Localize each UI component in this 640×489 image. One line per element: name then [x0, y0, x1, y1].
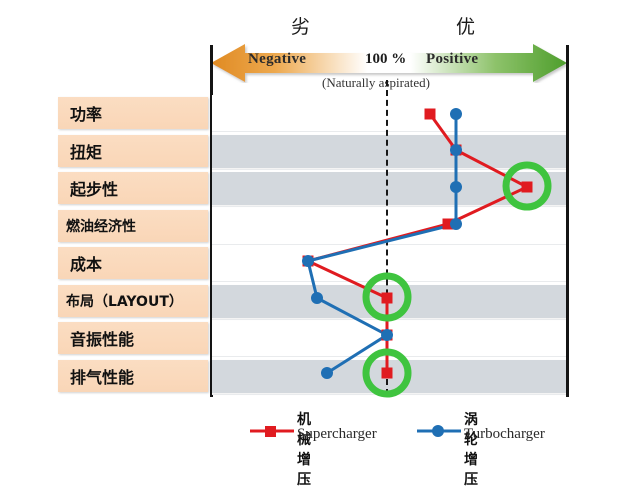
row-separator [212, 319, 566, 320]
row-band [212, 210, 566, 243]
row-band [212, 135, 566, 168]
row-separator [212, 206, 566, 207]
row-band [212, 97, 566, 130]
center-percent-label: 100 % [365, 51, 406, 68]
row-separator [212, 394, 566, 395]
row-label-7: 排气性能 [58, 360, 208, 392]
header-negative-cn: 劣 [291, 12, 310, 39]
legend-turbocharger-label-cn: 涡轮增压 [464, 409, 478, 489]
row-label-0: 功率 [58, 97, 208, 129]
row-label-6: 音振性能 [58, 322, 208, 354]
row-separator [212, 169, 566, 170]
axis-right [566, 45, 569, 397]
header-positive-cn: 优 [456, 12, 475, 39]
legend-supercharger-label-en: Supercharger [297, 426, 377, 443]
row-label-4: 成本 [58, 247, 208, 279]
legend-supercharger-label-cn: 机械增压 [297, 409, 311, 489]
row-band [212, 360, 566, 393]
baseline-note: (Naturally aspirated) [322, 75, 430, 91]
row-separator [212, 281, 566, 282]
row-band [212, 172, 566, 205]
row-separator [212, 356, 566, 357]
row-label-3: 燃油经济性 [58, 210, 208, 242]
row-separator [212, 244, 566, 245]
row-band [212, 247, 566, 280]
legend-turbocharger-label-en: Turbocharger [464, 426, 545, 443]
row-label-5: 布局（LAYOUT） [58, 285, 208, 317]
row-band [212, 285, 566, 318]
baseline-dashed-line [386, 80, 388, 395]
row-band [212, 322, 566, 355]
row-label-2: 起步性 [58, 172, 208, 204]
negative-label: Negative [248, 51, 306, 68]
row-separator [212, 131, 566, 132]
positive-label: Positive [426, 51, 478, 68]
row-label-1: 扭矩 [58, 135, 208, 167]
